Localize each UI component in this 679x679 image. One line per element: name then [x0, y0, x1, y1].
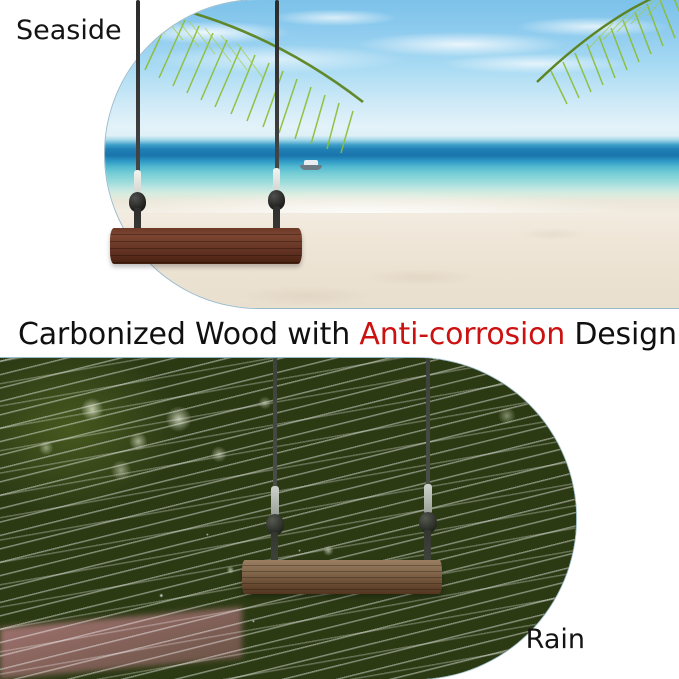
seaside-swing — [105, 0, 385, 270]
rope-sleeve-right — [273, 168, 280, 190]
swing-rope-left — [136, 0, 140, 190]
rain-rope-sleeve-right — [424, 484, 432, 514]
rope-sleeve-left — [134, 170, 141, 192]
headline-text: Carbonized Wood with Anti-corrosion Desi… — [18, 315, 668, 355]
rain-rope-sleeve-left — [271, 486, 279, 516]
headline-after: Design — [565, 317, 677, 352]
swing-rope-right — [275, 0, 279, 188]
rain-label: Rain — [526, 623, 585, 657]
headline-before: Carbonized Wood with — [18, 317, 359, 352]
rain-swing-seat-wood — [242, 560, 442, 594]
swing-seat-wood — [110, 228, 302, 264]
headline-highlight: Anti-corrosion — [359, 317, 565, 352]
rain-swing — [230, 358, 480, 638]
seaside-label: Seaside — [16, 14, 122, 48]
palm-frond-right-icon — [519, 0, 679, 116]
